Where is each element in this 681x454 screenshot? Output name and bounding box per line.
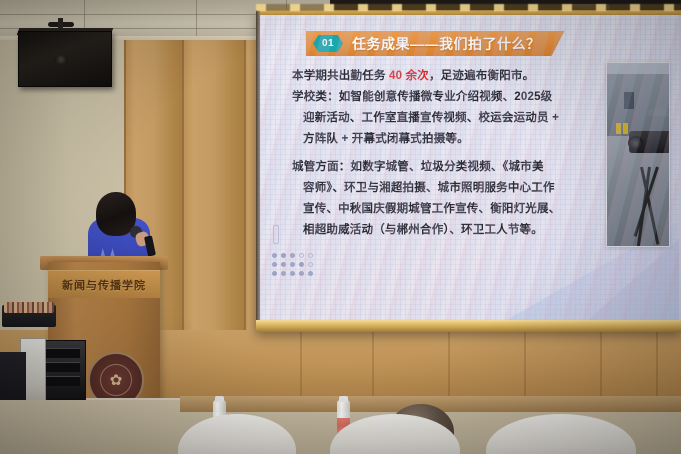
body-line: 城管方面：如数字城管、垃圾分类视频、《城市美	[292, 157, 572, 178]
slide-title-text: 任务成果——我们拍了什么？	[352, 34, 541, 54]
body-line: 学校类：如智能创意传播微专业介绍视频、2025级	[292, 87, 572, 108]
screen-top-light-strip	[256, 4, 681, 11]
speaker-cone-icon	[54, 55, 68, 64]
bottle-cap	[215, 396, 224, 402]
body-line: 宣传、中秋国庆假期城管工作宣传、衡阳灯光展、	[292, 199, 572, 220]
bottle-cap	[339, 396, 348, 402]
body-line: 容师》、环卫与湘超拍摄、城市照明服务中心工作	[292, 178, 572, 199]
mixer-knobs-icon	[4, 302, 54, 313]
slide-photo-inset	[606, 62, 670, 247]
crest-inner: ✿	[100, 364, 132, 396]
photo-worker	[623, 123, 628, 134]
slide-section-number: 01	[313, 35, 343, 52]
body-line: 方阵队 + 开幕式闭幕式拍摄等。	[292, 129, 572, 150]
photo-window	[624, 92, 634, 108]
screen-bottom-trim	[256, 320, 681, 332]
body-line: 本学期共出勤任务 40 余次，足迹遍布衡阳市。	[292, 66, 572, 87]
body-line-pre: 本学期共出勤任务	[292, 70, 389, 82]
podium-nameplate: 新闻与传播学院	[48, 270, 160, 298]
slide-title-banner: 01 任务成果——我们拍了什么？	[306, 31, 565, 56]
slide-surface: 01 任务成果——我们拍了什么？ 本学期共出勤任务 40 余次，足迹遍布衡阳市。…	[260, 14, 679, 320]
body-line-post: ，足迹遍布衡阳市。	[429, 70, 534, 82]
highlight-count: 40 余次	[389, 70, 429, 82]
projection-screen: 01 任务成果——我们拍了什么？ 本学期共出勤任务 40 余次，足迹遍布衡阳市。…	[256, 10, 681, 332]
podium-sign-text: 新闻与传播学院	[62, 277, 146, 293]
slide-body-text: 本学期共出勤任务 40 余次，足迹遍布衡阳市。 学校类：如智能创意传播微专业介绍…	[292, 66, 572, 241]
wood-wall-panel	[182, 40, 244, 360]
photo-umbrella	[647, 107, 669, 116]
slide-decoration-dots	[272, 253, 315, 278]
screen-left-trim	[256, 10, 260, 332]
body-line: 相超助威活动（与郴州合作）、环卫工人节等。	[292, 220, 572, 241]
photo-worker	[616, 123, 621, 134]
slide-decoration-bar	[273, 225, 279, 244]
body-line: 迎新活动、工作室直播宣传视频、校运会运动员 +	[292, 108, 572, 129]
lecture-hall-photo: 01 任务成果——我们拍了什么？ 本学期共出勤任务 40 余次，足迹遍布衡阳市。…	[0, 0, 681, 454]
